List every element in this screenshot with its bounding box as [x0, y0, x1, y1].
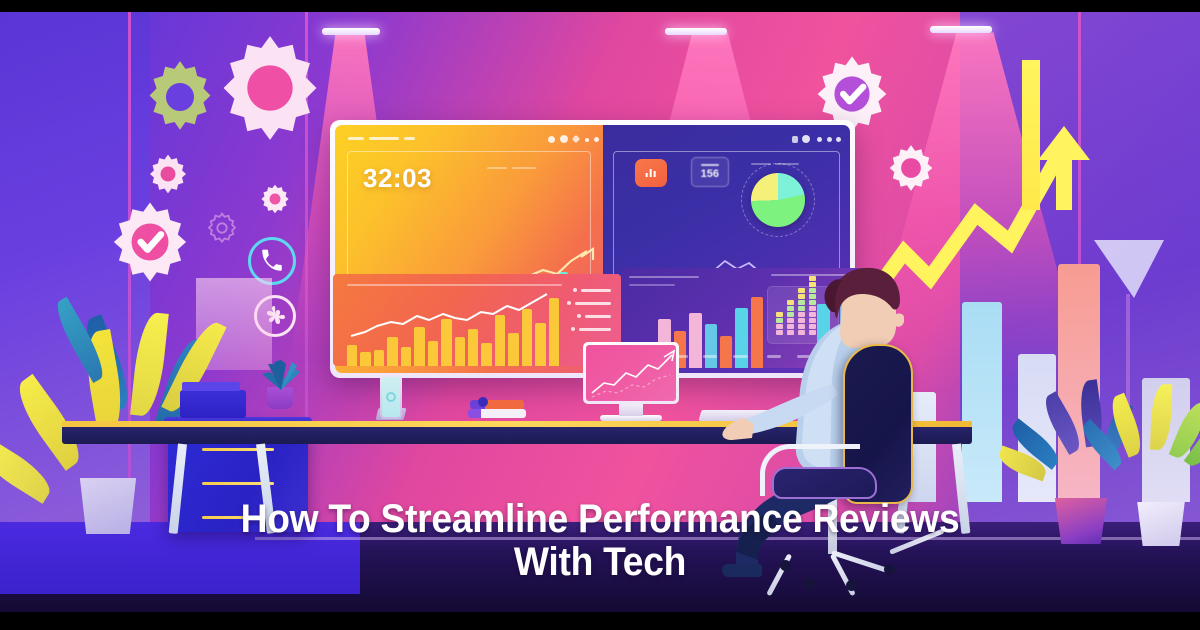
monitor-stand	[619, 404, 643, 416]
lower-left-trend-line	[347, 284, 565, 352]
background-bar-2	[962, 302, 1002, 502]
legend-bar	[581, 289, 611, 292]
legend-item	[571, 327, 611, 331]
metric-badge: 156	[691, 157, 729, 187]
person-arm	[718, 380, 838, 446]
stacked-bar-segment	[798, 306, 805, 311]
stacked-bar-segment	[787, 312, 794, 317]
stacked-bar-segment	[776, 312, 783, 317]
chart-legend-line	[487, 167, 507, 169]
chart-legend-line	[512, 167, 536, 169]
toolbar-icon[interactable]	[836, 137, 841, 142]
gear-icon	[141, 58, 219, 136]
toolbar-line	[369, 137, 399, 140]
toolbar-icon[interactable]	[817, 137, 822, 142]
ceiling-light-3	[930, 26, 992, 33]
bar	[689, 313, 701, 368]
legend-item	[567, 301, 611, 305]
axis-tick	[733, 355, 748, 358]
ceiling-light-2	[665, 28, 727, 35]
arrow-shaft	[1022, 60, 1040, 210]
legend-bar	[575, 302, 611, 305]
metric-badge-line	[701, 164, 719, 166]
books-stack	[180, 390, 246, 418]
book-sticker	[478, 397, 488, 407]
toolbar-icon[interactable]	[802, 135, 810, 143]
book	[182, 382, 240, 391]
stacked-bar-segment	[798, 300, 805, 305]
arrow-line-decor	[1126, 294, 1130, 414]
legend-item	[573, 288, 611, 292]
bar	[735, 308, 747, 368]
panel-top-rule	[629, 276, 699, 278]
phone-screen	[382, 377, 400, 417]
legend-dot	[573, 288, 577, 292]
stacked-bar-segment	[798, 294, 805, 299]
succulent-plant	[258, 358, 304, 392]
stacked-bar-segment	[787, 300, 794, 305]
title-overlay: How To Streamline Performance Reviews Wi…	[0, 498, 1200, 584]
toolbar-icon[interactable]	[792, 136, 798, 143]
legend-dot	[571, 327, 575, 331]
bar	[751, 297, 763, 368]
triangle-decor-icon	[1094, 240, 1164, 300]
report-badge-icon[interactable]	[635, 159, 667, 187]
screenshot-canvas: 32:03	[0, 0, 1200, 630]
toolbar-line	[348, 137, 364, 140]
page-title-line-2: With Tech	[514, 540, 686, 584]
bar	[720, 336, 732, 368]
metric-badge-value: 156	[701, 168, 719, 180]
letterbox-bottom	[0, 612, 1200, 630]
toolbar-icon[interactable]	[594, 137, 599, 142]
gear-icon	[885, 142, 937, 194]
stacked-bar-segment	[787, 306, 794, 311]
bar	[360, 352, 370, 366]
smartphone[interactable]	[380, 375, 402, 419]
legend-bar	[585, 315, 611, 318]
dashboard-panel-lower-left[interactable]	[333, 274, 621, 366]
bar	[705, 324, 717, 368]
toolbar-icon[interactable]	[827, 137, 832, 142]
legend-dot	[577, 314, 581, 318]
legend-item	[577, 314, 611, 318]
desk-monitor[interactable]	[583, 342, 679, 404]
toolbar-icon[interactable]	[548, 136, 555, 143]
pie-chart	[751, 173, 805, 227]
stacked-bar-segment	[798, 288, 805, 293]
legend-dot	[567, 301, 571, 305]
gear-icon	[258, 182, 292, 216]
book	[468, 409, 526, 418]
timer-value: 32:03	[363, 163, 432, 194]
toolbar-icon[interactable]	[560, 135, 568, 143]
toolbar-line	[404, 137, 415, 140]
stacked-bar-segment	[798, 312, 805, 317]
legend-bar	[579, 328, 611, 331]
monitor-screen	[586, 345, 676, 401]
axis-tick	[703, 355, 717, 358]
phone-app-icon	[386, 392, 396, 402]
page-title: How To Streamline Performance Reviews Wi…	[126, 498, 1075, 584]
chair-armrest	[760, 444, 860, 496]
bar	[374, 350, 384, 366]
gear-icon	[204, 210, 240, 246]
toolbar-icon[interactable]	[585, 138, 589, 142]
gear-icon	[146, 152, 190, 196]
ceiling-light-1	[322, 28, 380, 35]
page-title-line-1: How To Streamline Performance Reviews	[241, 497, 960, 541]
gear-icon	[216, 34, 324, 142]
gear-check-icon	[108, 200, 192, 284]
letterbox-top	[0, 0, 1200, 12]
toolbar-icon[interactable]	[572, 135, 580, 143]
monitor-line-chart	[586, 345, 676, 401]
